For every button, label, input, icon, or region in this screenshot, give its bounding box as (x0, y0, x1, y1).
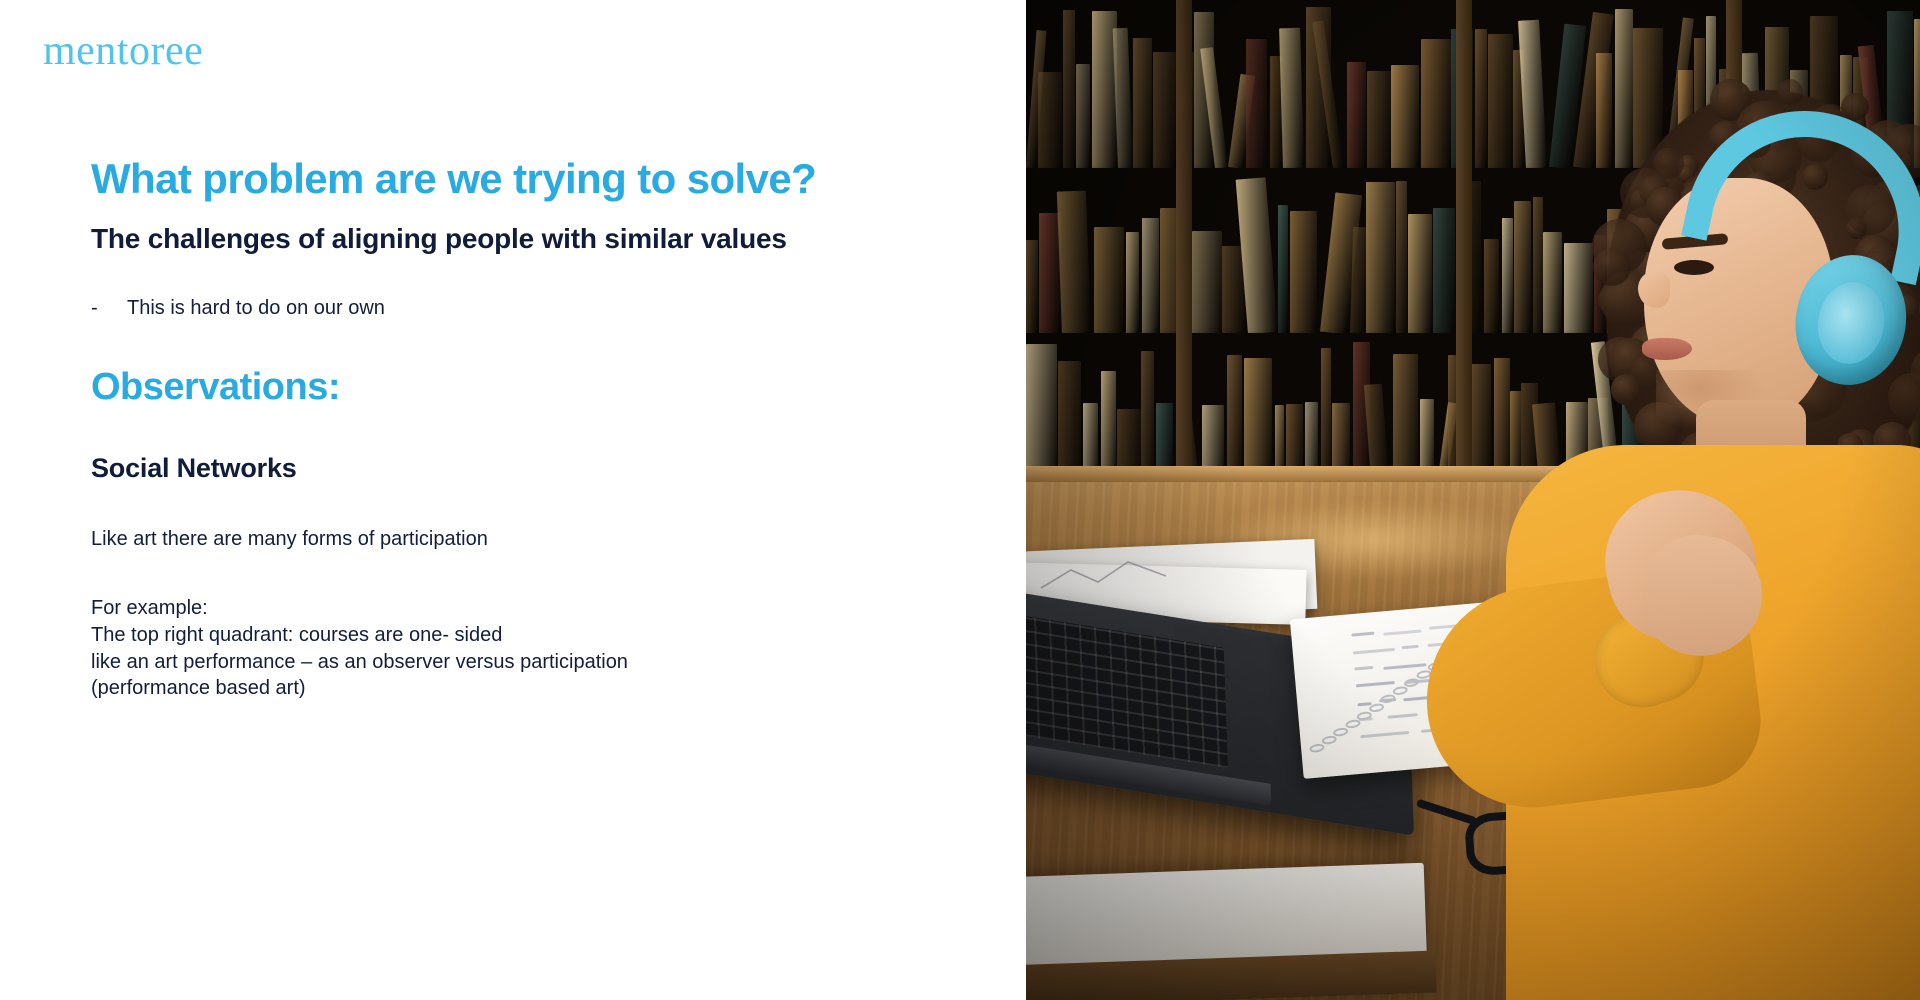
page-subtitle: The challenges of aligning people with s… (91, 222, 981, 256)
section-heading: Observations: (91, 366, 981, 410)
subsection-heading: Social Networks (91, 453, 981, 484)
brand-logo[interactable]: mentoree (43, 30, 203, 72)
body-paragraph: Like art there are many forms of partici… (91, 526, 981, 553)
hero-photo (1026, 0, 1920, 1000)
eye (1674, 260, 1714, 275)
page-title: What problem are we trying to solve? (91, 155, 981, 202)
slide: mentoree What problem are we trying to s… (0, 0, 1920, 1000)
person-figure (1446, 50, 1920, 1000)
nose (1638, 272, 1670, 308)
list-item: - This is hard to do on our own (91, 294, 981, 322)
text-panel: mentoree What problem are we trying to s… (0, 0, 1026, 1000)
bullet-label: This is hard to do on our own (127, 294, 385, 322)
example-line-4: (performance based art) (91, 675, 981, 702)
example-block: For example: The top right quadrant: cou… (91, 595, 981, 701)
slide-content: What problem are we trying to solve? The… (91, 155, 981, 702)
bullet-marker: - (91, 294, 127, 322)
example-line-3: like an art performance – as an observer… (91, 649, 981, 676)
bullet-list: - This is hard to do on our own (91, 294, 981, 322)
paper-sketch-icon (1036, 556, 1216, 596)
photo-stage (1026, 0, 1920, 1000)
example-line-2: The top right quadrant: courses are one-… (91, 622, 981, 649)
example-line-1: For example: (91, 595, 981, 622)
